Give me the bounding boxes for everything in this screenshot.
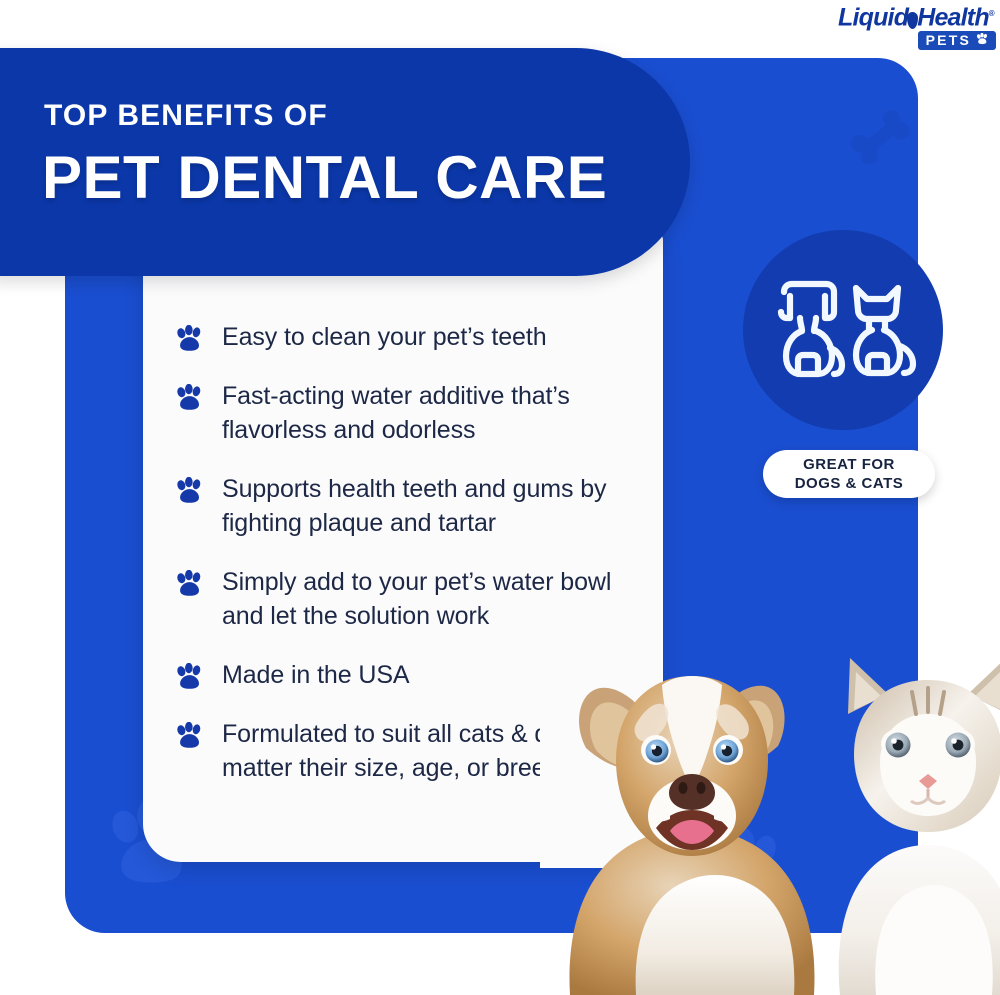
benefit-text: Fast-acting water additive that’s flavor… <box>222 379 647 447</box>
paw-print-icon <box>175 722 205 750</box>
great-for-badge-circle <box>743 230 943 430</box>
logo-wordmark: LiquidHealth® <box>838 2 996 29</box>
brand-logo: LiquidHealth® PETS <box>838 2 996 48</box>
great-for-pill: GREAT FOR DOGS & CATS <box>763 450 935 498</box>
logo-pets-label: PETS <box>926 33 971 47</box>
page-title: PET DENTAL CARE <box>42 144 607 212</box>
bone-watermark-icon <box>840 98 918 178</box>
paw-print-icon <box>175 663 205 691</box>
header-banner: TOP BENEFITS OF PET DENTAL CARE <box>0 48 690 276</box>
paw-print-icon <box>976 33 989 47</box>
benefit-text: Supports health teeth and gums by fighti… <box>222 472 647 540</box>
paw-print-icon <box>175 477 205 505</box>
infographic-canvas: LiquidHealth® PETS <box>0 0 1000 995</box>
benefit-text: Simply add to your pet’s water bowl and … <box>222 565 647 633</box>
benefit-text: Easy to clean your pet’s teeth <box>222 320 547 354</box>
list-item: Easy to clean your pet’s teeth <box>175 320 647 354</box>
pets-photo <box>540 628 1000 995</box>
logo-wordmark-liquid: Liquid <box>838 3 908 31</box>
list-item: Simply add to your pet’s water bowl and … <box>175 565 647 633</box>
list-item: Supports health teeth and gums by fighti… <box>175 472 647 540</box>
great-for-line2: DOGS & CATS <box>795 474 904 493</box>
benefit-text: Made in the USA <box>222 658 410 692</box>
paw-print-icon <box>175 384 205 412</box>
logo-wordmark-health: Health <box>917 3 989 31</box>
paw-print-icon <box>175 570 205 598</box>
paw-print-icon <box>175 325 205 353</box>
logo-pets-badge: PETS <box>918 31 996 50</box>
trademark-symbol: ® <box>989 9 994 18</box>
header-eyebrow: TOP BENEFITS OF <box>44 100 328 132</box>
list-item: Fast-acting water additive that’s flavor… <box>175 379 647 447</box>
great-for-line1: GREAT FOR <box>803 455 895 474</box>
